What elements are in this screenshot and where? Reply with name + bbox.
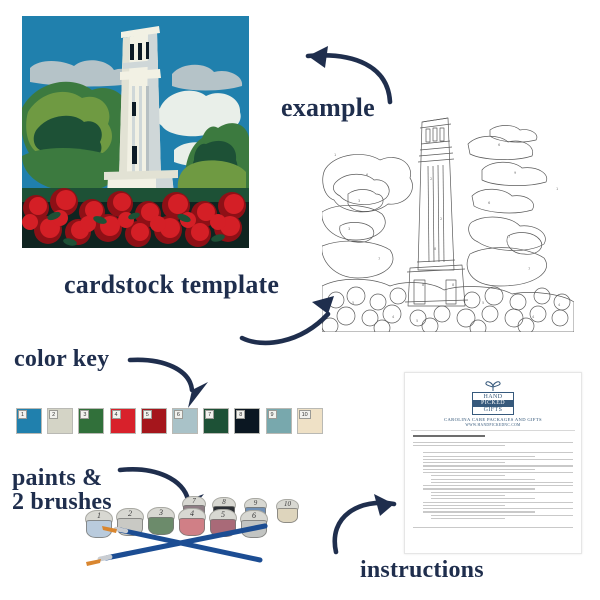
svg-text:1: 1 — [334, 153, 336, 157]
color-swatch: 9 — [266, 408, 292, 434]
cardstock-template-lineart: 69 66 33 77 72 28 88 54 54 54 11 — [322, 110, 574, 332]
brand-website: WWW.HANDPICKEDNC.COM — [405, 423, 581, 427]
paint-pot-number: 9 — [244, 499, 267, 507]
color-swatch: 7 — [203, 408, 229, 434]
example-painting — [22, 16, 249, 248]
swatch-number: 3 — [80, 410, 89, 419]
swatch-number: 7 — [205, 410, 214, 419]
svg-text:5: 5 — [482, 301, 484, 305]
label-paints-line1: paints & — [12, 465, 102, 491]
paint-pot-number: 7 — [182, 497, 206, 505]
paint-pot-number: 8 — [212, 498, 236, 506]
swatch-number: 2 — [49, 410, 58, 419]
paint-pot: 10 — [276, 499, 299, 523]
gift-box-icon — [482, 379, 504, 391]
divider — [411, 430, 575, 431]
svg-text:1: 1 — [556, 187, 558, 191]
paint-pot-number: 1 — [85, 511, 113, 520]
sheet-footer-paragraph — [405, 527, 581, 528]
swatch-number: 1 — [18, 410, 27, 419]
color-swatch: 4 — [110, 408, 136, 434]
arrow-to-color-key — [128, 356, 226, 410]
color-swatch: 10 — [297, 408, 323, 434]
arrow-to-example-painting — [278, 44, 398, 106]
paint-pot-number: 10 — [276, 500, 299, 508]
swatch-number: 6 — [174, 410, 183, 419]
label-color-key: color key — [14, 347, 109, 371]
swatch-number: 8 — [236, 410, 245, 419]
label-instructions: instructions — [360, 558, 484, 582]
color-swatch: 3 — [78, 408, 104, 434]
paint-pot-number: 2 — [116, 509, 144, 518]
sheet-heading-line — [413, 435, 485, 437]
svg-text:5: 5 — [416, 319, 418, 323]
paint-pot-number: 3 — [147, 508, 175, 517]
sheet-intro-paragraph — [405, 442, 581, 446]
brand-subtitle: CAROLINA CARE PACKAGES AND GIFTS — [405, 417, 581, 422]
paint-pot-number: 4 — [178, 509, 206, 518]
svg-text:7: 7 — [528, 267, 530, 271]
svg-text:7: 7 — [378, 257, 380, 261]
paint-brushes — [60, 520, 275, 568]
color-swatch: 2 — [47, 408, 73, 434]
color-swatch: 6 — [172, 408, 198, 434]
svg-text:5: 5 — [352, 301, 354, 305]
svg-text:2: 2 — [440, 217, 442, 221]
sheet-heading-block — [405, 435, 581, 437]
swatch-number: 5 — [143, 410, 152, 419]
color-swatch: 1 — [16, 408, 42, 434]
color-key-swatches: 1 2 3 4 5 6 7 8 9 10 — [16, 408, 323, 434]
arrow-to-cardstock-template — [238, 294, 348, 344]
color-swatch: 5 — [141, 408, 167, 434]
svg-text:2: 2 — [430, 177, 432, 181]
svg-text:3: 3 — [358, 199, 360, 203]
sheet-step-list — [405, 452, 581, 519]
paint-pot-number: 6 — [240, 511, 268, 520]
svg-text:7: 7 — [508, 235, 510, 239]
arrow-to-instructions — [322, 490, 408, 556]
sheet-heading-text: Instructions for Your Paint by Number Ki… — [405, 530, 406, 531]
svg-text:3: 3 — [348, 227, 350, 231]
swatch-number: 10 — [299, 410, 311, 419]
paint-pot-number: 5 — [209, 510, 237, 519]
instruction-sheet: HAND PICKED GIFTS CAROLINA CARE PACKAGES… — [404, 372, 582, 554]
color-swatch: 8 — [234, 408, 260, 434]
swatch-number: 4 — [112, 410, 121, 419]
logo-line-3: GIFTS — [473, 407, 513, 413]
swatch-number: 9 — [268, 410, 277, 419]
brand-logo: HAND PICKED GIFTS — [472, 379, 514, 415]
kit-contents-infographic: 69 66 33 77 72 28 88 54 54 54 11 example… — [0, 0, 600, 600]
